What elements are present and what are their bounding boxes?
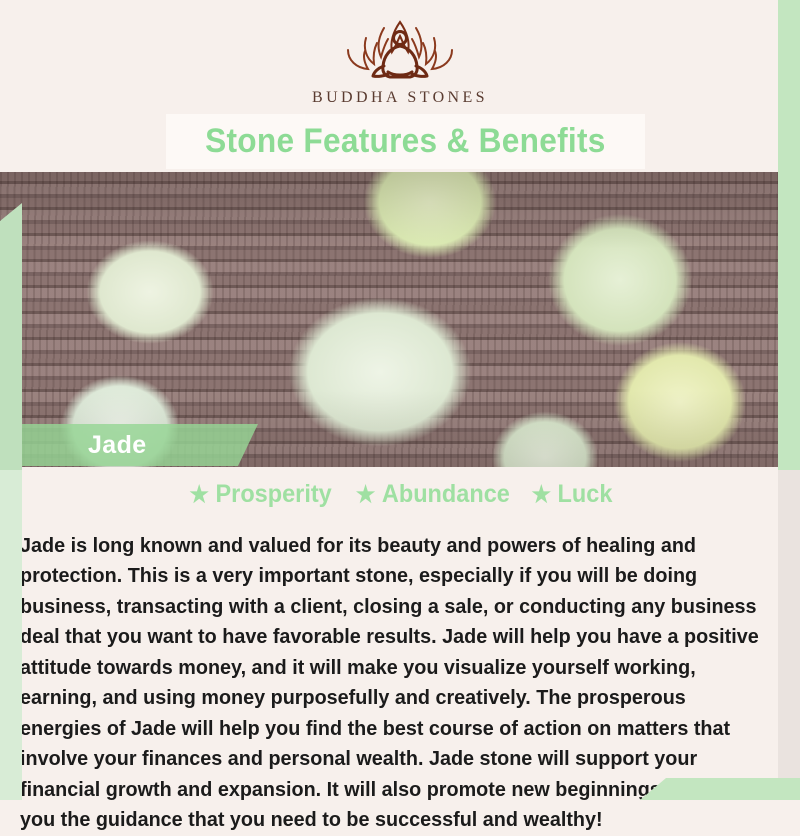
stone-description: Jade is long known and valued for its be… xyxy=(20,531,759,836)
decoration-left-bar-lower xyxy=(0,470,22,800)
poster-root: BUDDHA STONES Stone Features & Benefits … xyxy=(0,0,800,800)
benefit-label: Prosperity xyxy=(216,480,332,509)
benefit-item-abundance: ★ Abundance xyxy=(356,480,510,509)
benefit-label: Luck xyxy=(557,480,612,509)
star-icon: ★ xyxy=(190,483,209,506)
stone-name-bar: Jade xyxy=(0,424,258,466)
hero-stone-photo xyxy=(0,172,800,467)
stone-name-label: Jade xyxy=(88,431,147,460)
brand-header: BUDDHA STONES xyxy=(0,0,800,120)
decoration-bottom-right-band xyxy=(640,778,800,800)
benefit-item-prosperity: ★ Prosperity xyxy=(190,480,332,509)
logo-lockup: BUDDHA STONES xyxy=(0,14,800,107)
lotus-meditation-icon xyxy=(318,14,482,86)
benefit-item-luck: ★ Luck xyxy=(531,480,612,509)
benefit-label: Abundance xyxy=(382,480,510,509)
photo-shading-overlay xyxy=(0,172,800,467)
star-icon: ★ xyxy=(531,483,550,506)
decoration-right-bar-lower xyxy=(778,470,800,800)
title-banner: Stone Features & Benefits xyxy=(166,114,645,169)
benefits-row: ★ Prosperity ★ Abundance ★ Luck xyxy=(0,478,800,510)
star-icon: ★ xyxy=(356,483,375,506)
page-title: Stone Features & Benefits xyxy=(205,122,606,161)
brand-name: BUDDHA STONES xyxy=(312,89,488,107)
